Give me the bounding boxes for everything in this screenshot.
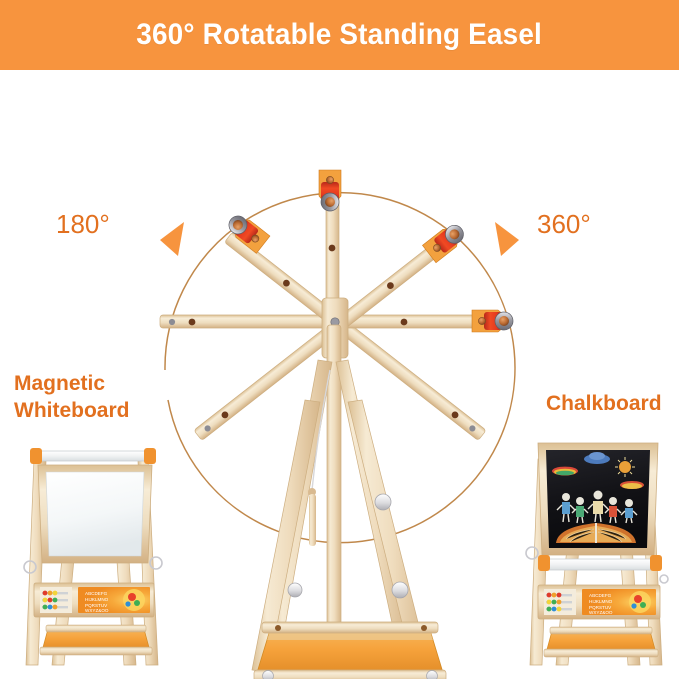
angle-label-180: 180° [56,209,110,240]
center-easel-tray [254,622,446,679]
activity-bar-left: ABCDEFG HIJKLMNO PQRSTUV WXYZ&OO [34,583,154,617]
caption-chalkboard: Chalkboard [546,390,662,417]
alphabet-card-right: ABCDEFG HIJKLMNO PQRSTUV WXYZ&OO [582,589,656,615]
alphabet-row: WXYZ&OO [85,608,109,613]
whiteboard-panel [38,465,152,563]
easel-arm-left-horizontal [160,315,340,328]
chalkboard-panel [538,443,658,555]
side-hook [660,575,668,583]
right-easel-product: ABCDEFG HIJKLMNO PQRSTUV WXYZ&OO [526,443,668,665]
bottom-tray-right [544,627,658,657]
activity-bar-right: ABCDEFG HIJKLMNO PQRSTUV WXYZ&OO [538,585,660,619]
left-easel-product: ABCDEFG HIJKLMNO PQRSTUV WXYZ&OO [24,448,162,665]
alphabet-card-left: ABCDEFG HIJKLMNO PQRSTUV WXYZ&OO [78,587,150,613]
abacus-right [544,589,576,615]
alphabet-row: ABCDEFG [85,591,108,596]
adjust-knob [392,582,408,598]
paper-roll-left [30,448,156,464]
angle-label-360: 360° [537,209,591,240]
alphabet-row: HIJKLMNO [589,599,613,604]
header-banner: 360° Rotatable Standing Easel [0,0,679,70]
adjust-knob [375,494,391,510]
paper-roll-right [538,555,662,571]
whiteboard-surface [46,472,144,556]
page-title: 360° Rotatable Standing Easel [137,18,543,52]
rotation-arrow-right [495,222,519,256]
caption-magnetic-whiteboard: Magnetic Whiteboard [14,370,130,424]
infographic-page: 360° Rotatable Standing Easel [0,0,679,679]
alphabet-row: HIJKLMNO [85,597,109,602]
adjust-knob [288,583,302,597]
bottom-tray-left [40,625,152,655]
alphabet-row: ABCDEFG [589,593,612,598]
rotation-arrow-left [160,222,184,256]
alphabet-row: WXYZ&OO [589,610,613,615]
clamp-right [472,310,513,332]
clamp-top [319,170,341,211]
abacus-left [40,587,72,613]
